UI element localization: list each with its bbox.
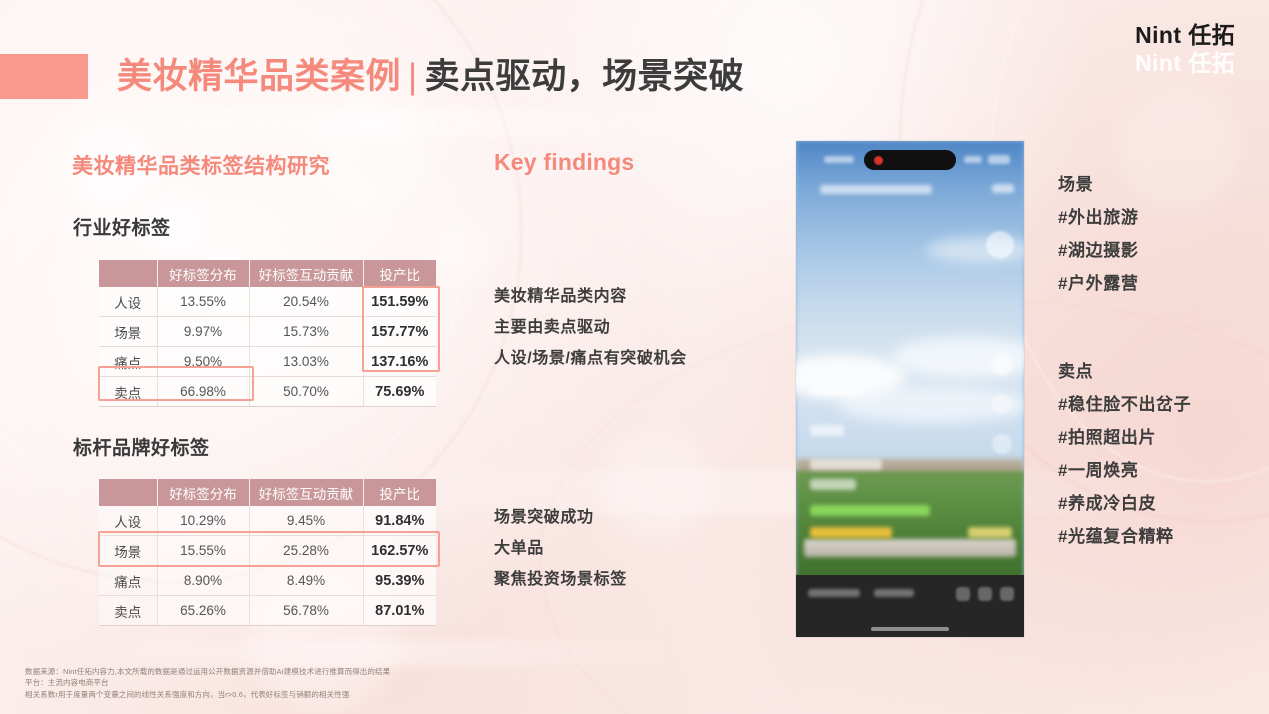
table-2-row-2-dist: 8.90% [157,566,249,596]
table-2-col-3: 投产比 [363,479,436,506]
table-row: 人设 10.29% 9.45% 91.84% [99,506,436,536]
table-row: 卖点 65.26% 56.78% 87.01% [99,596,436,626]
selling-point-tag: #光蕴复合精粹 [1058,520,1191,553]
screenshot-avatar [986,231,1014,259]
table-1-row-1-dist: 9.97% [157,317,249,347]
selling-point-tag: #一周焕亮 [1058,454,1191,487]
table-1-row-0-contrib: 20.54% [249,287,363,317]
key-finding-line: 人设/场景/痛点有突破机会 [494,343,687,374]
table-2-row-3-contrib: 56.78% [249,596,363,626]
brand-logo-reflection: Nint 任拓 [1135,52,1235,75]
scene-tag: #湖边摄影 [1058,234,1138,267]
key-finding-line: 主要由卖点驱动 [494,312,687,343]
table-2-row-3-dist: 65.26% [157,596,249,626]
table-2-row-0-roi: 91.84% [363,506,436,536]
table-2-row-2-label: 痛点 [99,566,157,596]
table-1-row-3-contrib: 50.70% [249,377,363,407]
table-1-row-2-contrib: 13.03% [249,347,363,377]
table-row: 痛点 9.50% 13.03% 137.16% [99,347,436,377]
table-1-row-1-label: 场景 [99,317,157,347]
table-2-row-2-contrib: 8.49% [249,566,363,596]
slide-canvas: 美妆精华品类案例|卖点驱动，场景突破 Nint 任拓 Nint 任拓 美妆精华品… [0,0,1269,714]
table-2-title: 标杆品牌好标签 [73,433,210,460]
table-1-row-0-dist: 13.55% [157,287,249,317]
table-1-row-1-roi: 157.77% [363,317,436,347]
table-1-col-1: 好标签分布 [157,260,249,287]
table-2-col-2: 好标签互动贡献 [249,479,363,506]
table-1-row-3-dist: 66.98% [157,377,249,407]
selling-point-heading: 卖点 [1058,355,1191,388]
brand-logo: Nint 任拓 [1135,24,1235,47]
benchmark-brand-good-tags-table: 好标签分布 好标签互动贡献 投产比 人设 10.29% 9.45% 91.84%… [99,479,436,626]
left-section-title: 美妆精华品类标签结构研究 [72,150,330,180]
table-1-row-3-label: 卖点 [99,377,157,407]
key-finding-line: 聚焦投资场景标签 [494,564,627,595]
table-row: 场景 15.55% 25.28% 162.57% [99,536,436,566]
footnote: 数据来源：Nint任拓内容力,本文所载的数据是通过运用公开数据资源并借助AI建模… [25,666,390,701]
key-finding-line: 场景突破成功 [494,502,627,533]
table-1-row-2-dist: 9.50% [157,347,249,377]
key-finding-line: 大单品 [494,533,627,564]
table-2-row-0-dist: 10.29% [157,506,249,536]
table-2-col-1: 好标签分布 [157,479,249,506]
title-accent-block [0,54,88,99]
table-row: 痛点 8.90% 8.49% 95.39% [99,566,436,596]
table-1-row-0-roi: 151.59% [363,287,436,317]
screenshot-bench [804,539,1016,557]
table-2-row-3-label: 卖点 [99,596,157,626]
table-1-col-3: 投产比 [363,260,436,287]
key-findings-group-two: 场景突破成功 大单品 聚焦投资场景标签 [494,502,627,595]
selling-point-tag: #拍照超出片 [1058,421,1191,454]
table-1-row-0-label: 人设 [99,287,157,317]
video-screenshot [796,141,1024,637]
scene-heading: 场景 [1058,168,1138,201]
table-2-row-1-dist: 15.55% [157,536,249,566]
screenshot-home-indicator [871,627,949,631]
selling-point-tag-group: 卖点 #稳住脸不出岔子 #拍照超出片 #一周焕亮 #养成冷白皮 #光蕴复合精粹 [1058,355,1191,553]
table-2-row-1-contrib: 25.28% [249,536,363,566]
footnote-line-2: 平台：主流内容电商平台 [25,677,390,689]
page-title-secondary: 卖点驱动，场景突破 [425,57,745,96]
page-title: 美妆精华品类案例|卖点驱动，场景突破 [117,51,744,103]
table-2-row-1-roi: 162.57% [363,536,436,566]
table-1-row-3-roi: 75.69% [363,377,436,407]
scene-tag: #户外露营 [1058,267,1138,300]
screenshot-record-dot [874,156,883,165]
industry-good-tags-table: 好标签分布 好标签互动贡献 投产比 人设 13.55% 20.54% 151.5… [99,260,436,407]
scene-tag-group: 场景 #外出旅游 #湖边摄影 #户外露营 [1058,168,1138,300]
scene-tag: #外出旅游 [1058,201,1138,234]
key-findings-group-one: 美妆精华品类内容 主要由卖点驱动 人设/场景/痛点有突破机会 [494,281,687,374]
page-title-primary: 美妆精华品类案例 [117,57,401,96]
table-2-row-2-roi: 95.39% [363,566,436,596]
key-findings-title: Key findings [494,149,634,176]
selling-point-tag: #养成冷白皮 [1058,487,1191,520]
table-row: 卖点 66.98% 50.70% 75.69% [99,377,436,407]
selling-point-tag: #稳住脸不出岔子 [1058,388,1191,421]
footnote-line-1: 数据来源：Nint任拓内容力,本文所载的数据是通过运用公开数据资源并借助AI建模… [25,666,390,678]
table-1-row-2-roi: 137.16% [363,347,436,377]
footnote-line-3: 相关系数r用于度量两个变量之间的线性关系强度和方向，当r>0.6，代表好标签与销… [25,689,390,701]
table-1-title: 行业好标签 [73,213,171,240]
table-1-row-2-label: 痛点 [99,347,157,377]
page-title-divider: | [408,57,418,96]
table-2-row-1-label: 场景 [99,536,157,566]
table-header-row: 好标签分布 好标签互动贡献 投产比 [99,260,436,287]
table-1-row-1-contrib: 15.73% [249,317,363,347]
key-finding-line: 美妆精华品类内容 [494,281,687,312]
table-1-col-2: 好标签互动贡献 [249,260,363,287]
table-row: 人设 13.55% 20.54% 151.59% [99,287,436,317]
table-2-row-0-label: 人设 [99,506,157,536]
table-2-row-3-roi: 87.01% [363,596,436,626]
table-1-col-0 [99,260,157,287]
table-2-row-0-contrib: 9.45% [249,506,363,536]
table-header-row: 好标签分布 好标签互动贡献 投产比 [99,479,436,506]
table-row: 场景 9.97% 15.73% 157.77% [99,317,436,347]
table-2-col-0 [99,479,157,506]
